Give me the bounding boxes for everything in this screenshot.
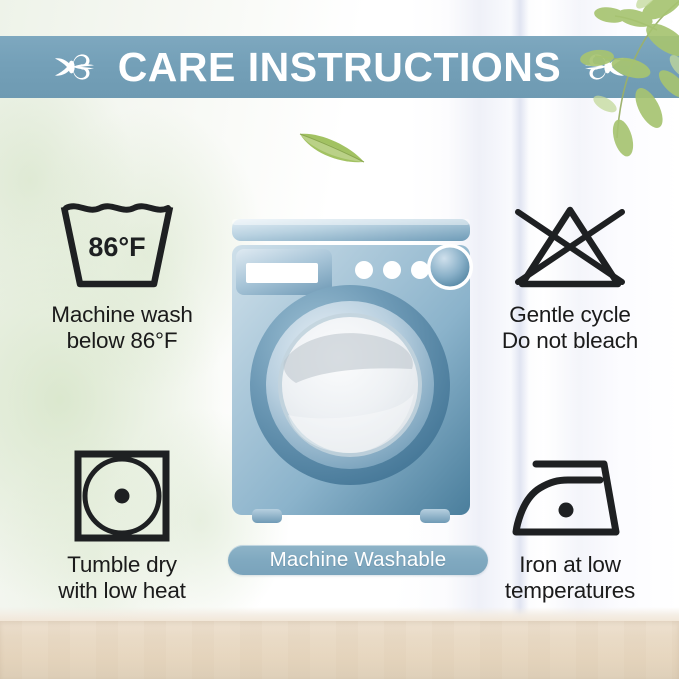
caption-line-1: Machine wash: [22, 302, 222, 328]
wash-temperature-value: 86°F: [88, 232, 145, 262]
caption-line-2: below 86°F: [22, 328, 222, 354]
caption-line-1: Tumble dry: [22, 552, 222, 578]
iron-icon: [506, 448, 634, 544]
wash-tub-icon: 86°F: [58, 198, 186, 294]
iron-heat-dot: [559, 503, 574, 518]
tumble-dry-icon: [72, 448, 172, 544]
badge-label: Machine Washable: [270, 548, 447, 572]
header-banner: CARE INSTRUCTIONS: [0, 36, 679, 98]
care-symbol-caption: Iron at low temperatures: [470, 552, 670, 604]
machine-washable-badge: Machine Washable: [228, 545, 488, 575]
washer-indicator-dot: [411, 261, 429, 279]
fleur-de-lis-ornament-right-icon: [579, 47, 637, 87]
care-symbol-machine-wash: 86°F Machine wash below 86°F: [22, 196, 222, 354]
fleur-de-lis-ornament-left-icon: [42, 47, 100, 87]
tumble-dry-heat-dot: [115, 489, 130, 504]
tumble-dry-icon-wrapper: [22, 446, 222, 546]
caption-line-2: temperatures: [470, 578, 670, 604]
washer-indicator-dot: [355, 261, 373, 279]
care-symbol-do-not-bleach: Gentle cycle Do not bleach: [470, 196, 670, 354]
triangle-crossed-icon-wrapper: [470, 196, 670, 296]
washer-foot: [420, 509, 450, 523]
caption-line-1: Iron at low: [470, 552, 670, 578]
washer-indicator-dot: [383, 261, 401, 279]
leaf-icon: [296, 124, 368, 168]
caption-line-2: Do not bleach: [470, 328, 670, 354]
page-title: CARE INSTRUCTIONS: [118, 47, 562, 88]
care-symbol-iron: Iron at low temperatures: [470, 446, 670, 604]
caption-line-2: with low heat: [22, 578, 222, 604]
washing-machine-illustration: [222, 205, 480, 535]
care-symbol-caption: Tumble dry with low heat: [22, 552, 222, 604]
wood-surface: [0, 621, 679, 679]
wash-tub-icon-wrapper: 86°F: [22, 196, 222, 296]
iron-icon-wrapper: [470, 446, 670, 546]
wood-surface-edge: [0, 607, 679, 621]
triangle-crossed-icon: [506, 198, 634, 294]
care-symbol-caption: Gentle cycle Do not bleach: [470, 302, 670, 354]
care-instructions-infographic: CARE INSTRUCTIONS: [0, 0, 679, 679]
caption-line-1: Gentle cycle: [470, 302, 670, 328]
care-symbol-caption: Machine wash below 86°F: [22, 302, 222, 354]
washer-foot: [252, 509, 282, 523]
care-symbol-tumble-dry: Tumble dry with low heat: [22, 446, 222, 604]
washer-control-knob: [431, 248, 470, 287]
